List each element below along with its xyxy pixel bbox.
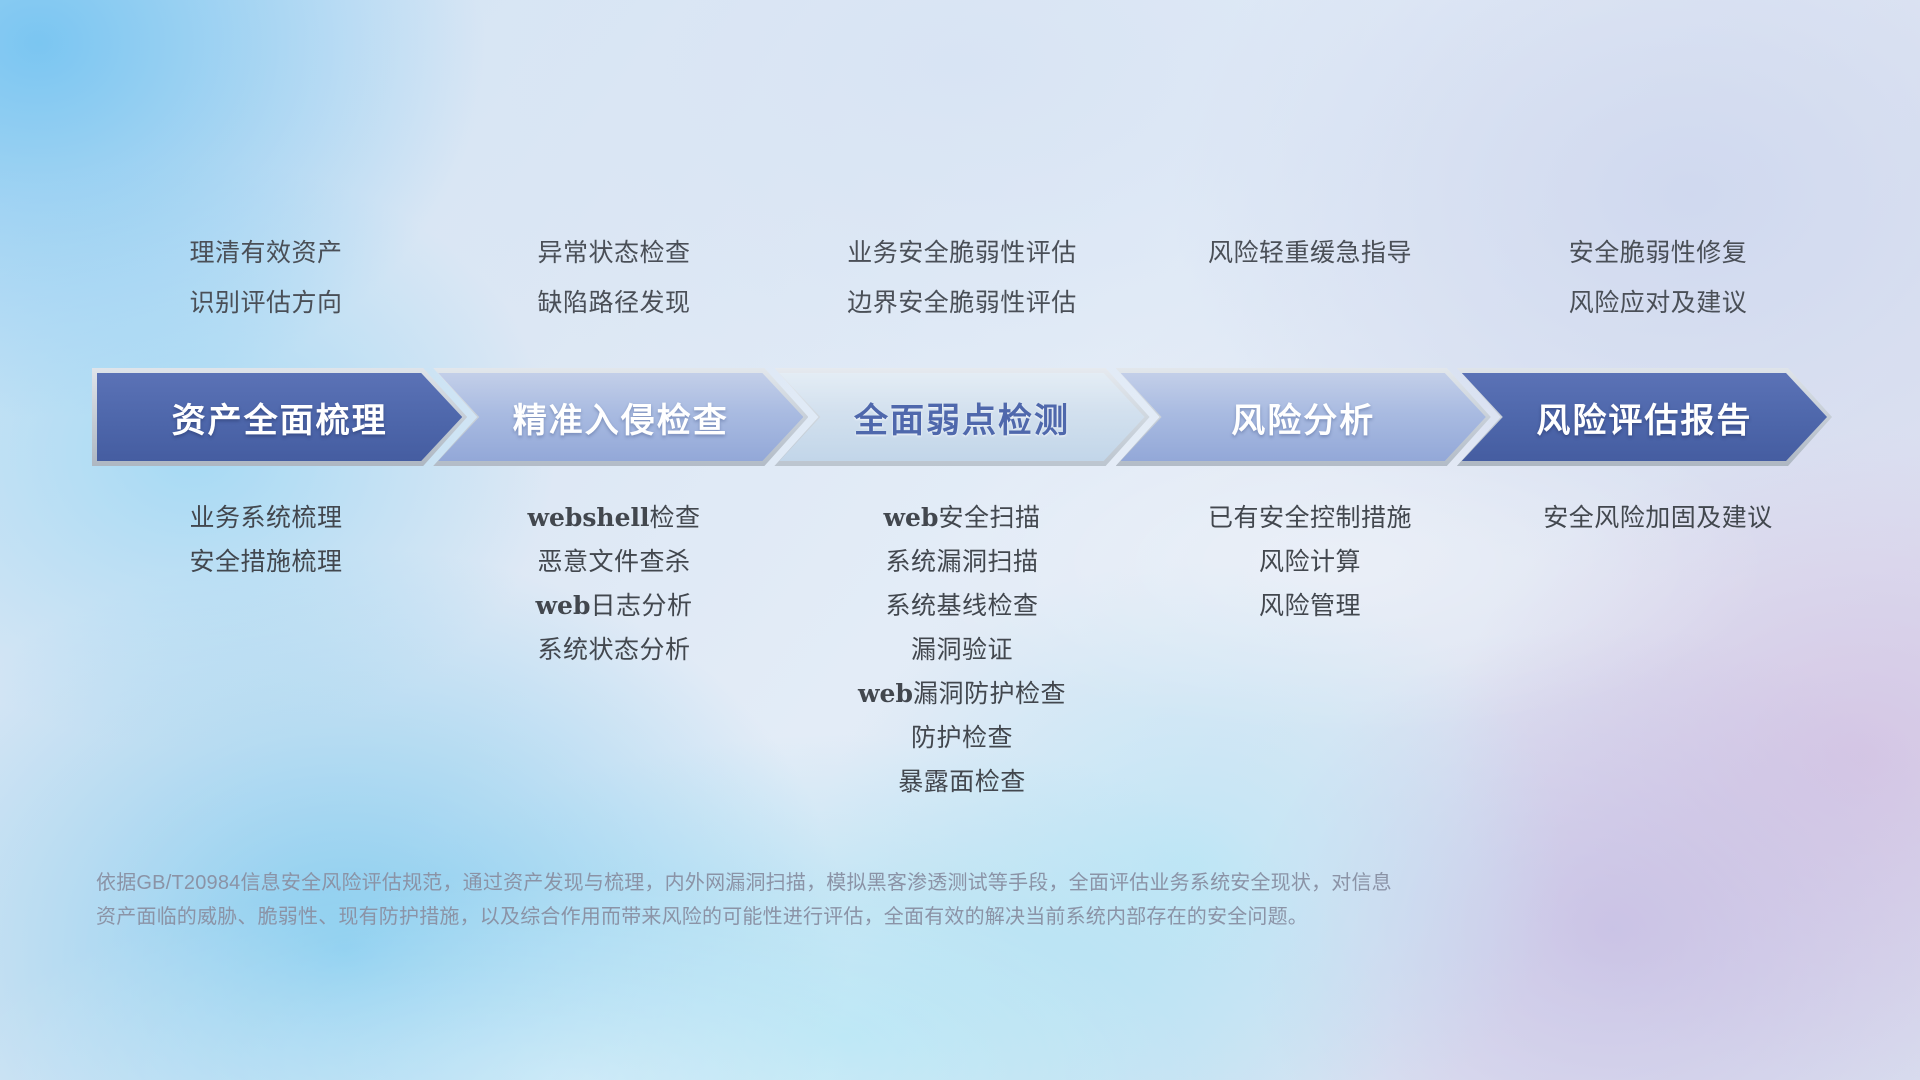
bottom-list-item: 暴露面检查 (788, 760, 1136, 804)
bottom-list-item: web漏洞防护检查 (788, 672, 1136, 716)
bottom-list-item: 系统漏洞扫描 (788, 540, 1136, 584)
bottom-list-item: 安全风险加固及建议 (1484, 496, 1832, 540)
bottom-list-item: 业务系统梳理 (92, 496, 440, 540)
process-stage-risk-analysis[interactable]: 风险分析 (1116, 368, 1491, 466)
bottom-list-risk-report: 安全风险加固及建议 (1484, 496, 1832, 804)
top-list-risk-report: 安全脆弱性修复 风险应对及建议 (1484, 228, 1832, 328)
bottom-list-weakness-detection: web安全扫描 系统漏洞扫描 系统基线检查 漏洞验证 web漏洞防护检查 防护检… (788, 496, 1136, 804)
bottom-list-intrusion-check: webshell检查 恶意文件查杀 web日志分析 系统状态分析 (440, 496, 788, 804)
top-list-item: 边界安全脆弱性评估 (788, 278, 1136, 328)
bottom-list-risk-analysis: 已有安全控制措施 风险计算 风险管理 (1136, 496, 1484, 804)
process-stage-intrusion-check[interactable]: 精准入侵检查 (433, 368, 808, 466)
top-list-intrusion-check: 异常状态检查 缺陷路径发现 (440, 228, 788, 328)
process-stage-label: 风险评估报告 (1536, 393, 1752, 442)
top-list-item: 异常状态检查 (440, 228, 788, 278)
bottom-list-item: 风险计算 (1136, 540, 1484, 584)
bottom-list-item: 恶意文件查杀 (440, 540, 788, 584)
bottom-list-item: 风险管理 (1136, 584, 1484, 628)
top-list-weakness-detection: 业务安全脆弱性评估 边界安全脆弱性评估 (788, 228, 1136, 328)
process-chevron-band: 资产全面梳理 精准入侵检查 全面弱点检测 风险分析 风险评估报告 (92, 368, 1832, 466)
top-descriptor-row: 理清有效资产 识别评估方向 异常状态检查 缺陷路径发现 业务安全脆弱性评估 边界… (92, 228, 1832, 328)
slide-stage: 理清有效资产 识别评估方向 异常状态检查 缺陷路径发现 业务安全脆弱性评估 边界… (0, 0, 1920, 1080)
process-stage-weakness-detection[interactable]: 全面弱点检测 (774, 368, 1149, 466)
bottom-list-asset-inventory: 业务系统梳理 安全措施梳理 (92, 496, 440, 804)
top-list-item: 理清有效资产 (92, 228, 440, 278)
bottom-list-item: 安全措施梳理 (92, 540, 440, 584)
process-stage-label: 全面弱点检测 (854, 393, 1070, 442)
footer-line: 资产面临的威胁、脆弱性、现有防护措施，以及综合作用而带来风险的可能性进行评估，全… (96, 900, 1626, 934)
process-stage-label: 精准入侵检查 (513, 393, 729, 442)
top-list-item: 风险轻重缓急指导 (1136, 228, 1484, 278)
top-list-item: 风险应对及建议 (1484, 278, 1832, 328)
process-stage-label: 资产全面梳理 (172, 393, 388, 442)
process-stage-asset-inventory[interactable]: 资产全面梳理 (92, 368, 467, 466)
bottom-list-item: web安全扫描 (788, 496, 1136, 540)
process-stage-label: 风险分析 (1231, 393, 1375, 442)
bottom-list-item: web日志分析 (440, 584, 788, 628)
footer-description: 依据GB/T20984信息安全风险评估规范，通过资产发现与梳理，内外网漏洞扫描，… (96, 866, 1626, 934)
bottom-detail-row: 业务系统梳理 安全措施梳理 webshell检查 恶意文件查杀 web日志分析 … (92, 496, 1832, 804)
top-list-item: 安全脆弱性修复 (1484, 228, 1832, 278)
bottom-list-item: 漏洞验证 (788, 628, 1136, 672)
top-list-item: 业务安全脆弱性评估 (788, 228, 1136, 278)
footer-line: 依据GB/T20984信息安全风险评估规范，通过资产发现与梳理，内外网漏洞扫描，… (96, 866, 1626, 900)
top-list-asset-inventory: 理清有效资产 识别评估方向 (92, 228, 440, 328)
bottom-list-item: 系统基线检查 (788, 584, 1136, 628)
bottom-list-item: webshell检查 (440, 496, 788, 540)
bottom-list-item: 系统状态分析 (440, 628, 788, 672)
top-list-item: 识别评估方向 (92, 278, 440, 328)
process-stage-risk-report[interactable]: 风险评估报告 (1457, 368, 1832, 466)
bottom-list-item: 已有安全控制措施 (1136, 496, 1484, 540)
bottom-list-item: 防护检查 (788, 716, 1136, 760)
top-list-risk-analysis: 风险轻重缓急指导 (1136, 228, 1484, 328)
top-list-item: 缺陷路径发现 (440, 278, 788, 328)
